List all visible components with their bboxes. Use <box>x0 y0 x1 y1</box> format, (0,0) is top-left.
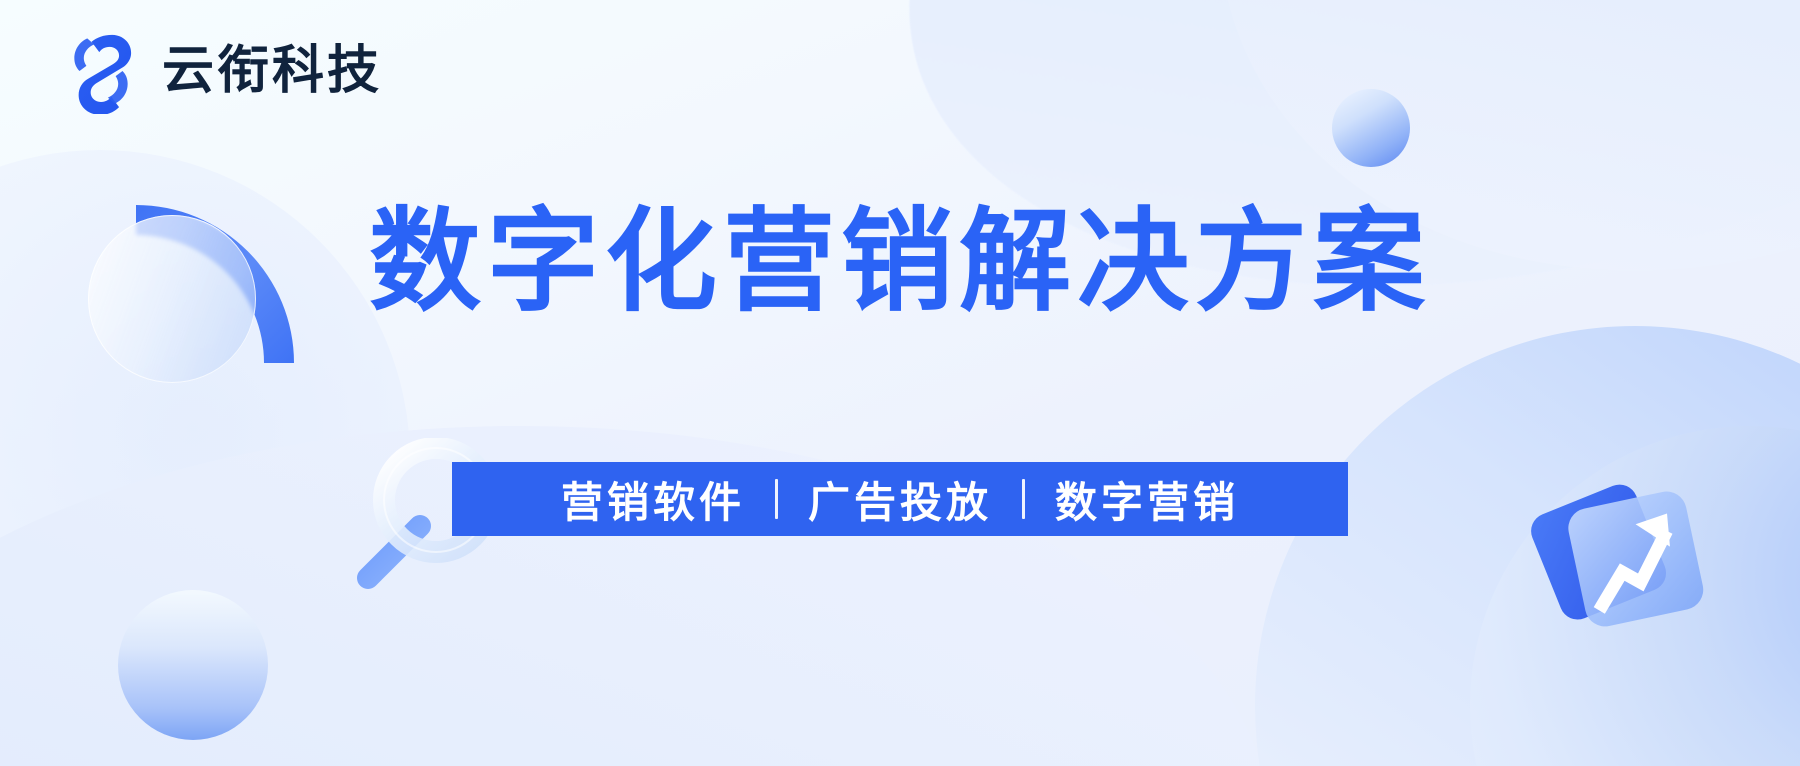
tagline-text: 营销软件 广告投放 数字营销 <box>557 469 1243 530</box>
brand-logo[interactable]: 云衔科技 <box>58 28 382 114</box>
tagline-item-0: 营销软件 <box>557 469 749 530</box>
tagline-separator <box>775 479 778 519</box>
trending-up-chart-icon <box>1512 452 1732 672</box>
yunxian-s-mark-icon <box>58 28 144 114</box>
marketing-hero-banner: 云衔科技 数字化营销解决方案 营销软件 <box>0 0 1800 766</box>
decor-blob-top-right-secondary <box>1113 0 1800 392</box>
gradient-circle-icon <box>118 590 268 740</box>
brand-name: 云衔科技 <box>162 45 382 97</box>
tagline-separator <box>1022 479 1025 519</box>
decor-blob-top-right <box>841 0 1800 392</box>
tagline-bar: 营销软件 广告投放 数字营销 <box>452 462 1348 536</box>
tagline-item-1: 广告投放 <box>804 469 996 530</box>
page-title: 数字化营销解决方案 <box>0 198 1800 327</box>
tagline-item-2: 数字营销 <box>1051 469 1243 530</box>
gradient-circle-small-icon <box>1332 89 1410 167</box>
